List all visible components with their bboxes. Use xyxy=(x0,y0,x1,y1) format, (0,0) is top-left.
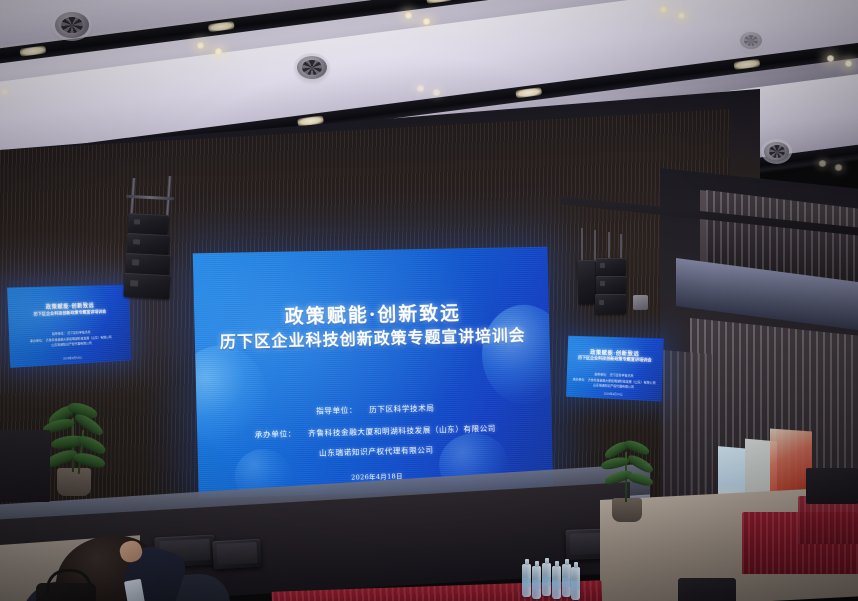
slide-row-value: 齐鲁科技金融大厦和明湖科技发展（山东）有限公司 xyxy=(308,424,496,438)
handbag xyxy=(36,583,96,601)
slide-row-organizer-2: 山东瑞诺知识产权代理有限公司 xyxy=(198,441,553,462)
slide-row-label: 指导单位： xyxy=(316,404,366,416)
ceiling-spotlight-icon xyxy=(416,85,425,92)
side-screen-line3: 山东瑞诺知识产权代理有限公司 xyxy=(566,382,662,392)
slide-row-value: 山东瑞诺知识产权代理有限公司 xyxy=(319,445,434,457)
side-led-screen-left[interactable]: 政策赋能·创新致远 历下区企业科技创新政策专题宣讲培训会 指导单位： 历下区科学… xyxy=(7,285,131,368)
ceiling-air-vent-icon xyxy=(764,142,789,161)
ceiling-spotlight-icon xyxy=(659,6,668,13)
ceiling-spotlight-icon xyxy=(196,42,205,49)
led-surface: 政策赋能·创新致远 历下区企业科技创新政策专题宣讲培训会 指导单位： 历下区科学… xyxy=(193,247,554,499)
ceiling-spotlight-icon xyxy=(432,89,441,96)
side-led-screen-right[interactable]: 政策赋能·创新致远 历下区企业科技创新政策专题宣讲培训会 指导单位： 历下区科学… xyxy=(566,336,664,402)
stage-monitor xyxy=(212,539,261,569)
slide-content: 政策赋能·创新致远 历下区企业科技创新政策专题宣讲培训会 指导单位： 历下区科学… xyxy=(193,247,554,499)
ceiling-air-vent-icon xyxy=(297,56,327,79)
speaker-subwoofer-left xyxy=(0,430,50,502)
chair-right-foreground xyxy=(678,578,736,601)
side-screen-subtitle: 历下区企业科技创新政策专题宣讲培训会 xyxy=(8,308,129,319)
side-screen-subtitle: 历下区企业科技创新政策专题宣讲培训会 xyxy=(567,355,663,364)
conference-hall-photo: 政策赋能·创新致远 历下区企业科技创新政策专题宣讲培训会 指导单位： 历下区科学… xyxy=(0,0,858,601)
ceiling-spotlight-icon xyxy=(844,60,853,67)
ceiling-air-vent-icon xyxy=(55,12,89,38)
ceiling-air-vent-icon xyxy=(740,32,762,49)
side-screen-title: 政策赋能·创新致远 xyxy=(568,348,664,359)
ceiling-spotlight-icon xyxy=(404,12,413,19)
water-bottle xyxy=(532,566,541,599)
ceiling-spotlight-icon xyxy=(422,18,431,25)
side-screen-title: 政策赋能·创新致远 xyxy=(8,300,130,312)
side-screen-date: 2026年4月18日 xyxy=(566,390,662,399)
lectern-right xyxy=(806,468,858,504)
wall-plate-icon xyxy=(633,295,648,310)
ceiling-spotlight-icon xyxy=(834,164,843,171)
water-bottle xyxy=(542,563,551,596)
ceiling-spotlight-icon xyxy=(0,88,9,95)
water-bottle xyxy=(571,567,580,600)
slide-row-organizer: 承办单位： 齐鲁科技金融大厦和明湖科技发展（山东）有限公司 xyxy=(197,421,552,442)
water-bottle xyxy=(562,564,571,597)
slide-row-label: 承办单位： xyxy=(255,428,306,440)
main-led-screen[interactable]: 政策赋能·创新致远 历下区企业科技创新政策专题宣讲培训会 指导单位： 历下区科学… xyxy=(193,247,554,499)
side-screen-line3: 山东瑞诺知识产权代理有限公司 xyxy=(9,339,130,351)
side-screen-line1: 指导单位： 历下区科学技术局 xyxy=(567,371,663,381)
ceiling-spotlight-icon xyxy=(818,160,827,167)
water-bottle xyxy=(522,564,531,597)
ceiling-spotlight-icon xyxy=(826,55,835,62)
ceiling-spotlight-icon xyxy=(214,48,223,55)
slide-row-guidance: 指导单位： 历下区科学技术局 xyxy=(197,399,552,419)
side-screen-line2: 承办单位： 齐鲁科技金融大厦和明湖科技发展（山东）有限公司 xyxy=(9,334,130,346)
side-screen-line1: 指导单位： 历下区科学技术局 xyxy=(9,328,130,339)
ceiling-spotlight-icon xyxy=(677,12,686,19)
water-bottle xyxy=(552,566,561,599)
slide-row-value: 历下区科学技术局 xyxy=(369,403,435,414)
side-screen-line2: 承办单位： 齐鲁科技金融大厦和明湖科技发展（山东）有限公司 xyxy=(567,376,663,386)
